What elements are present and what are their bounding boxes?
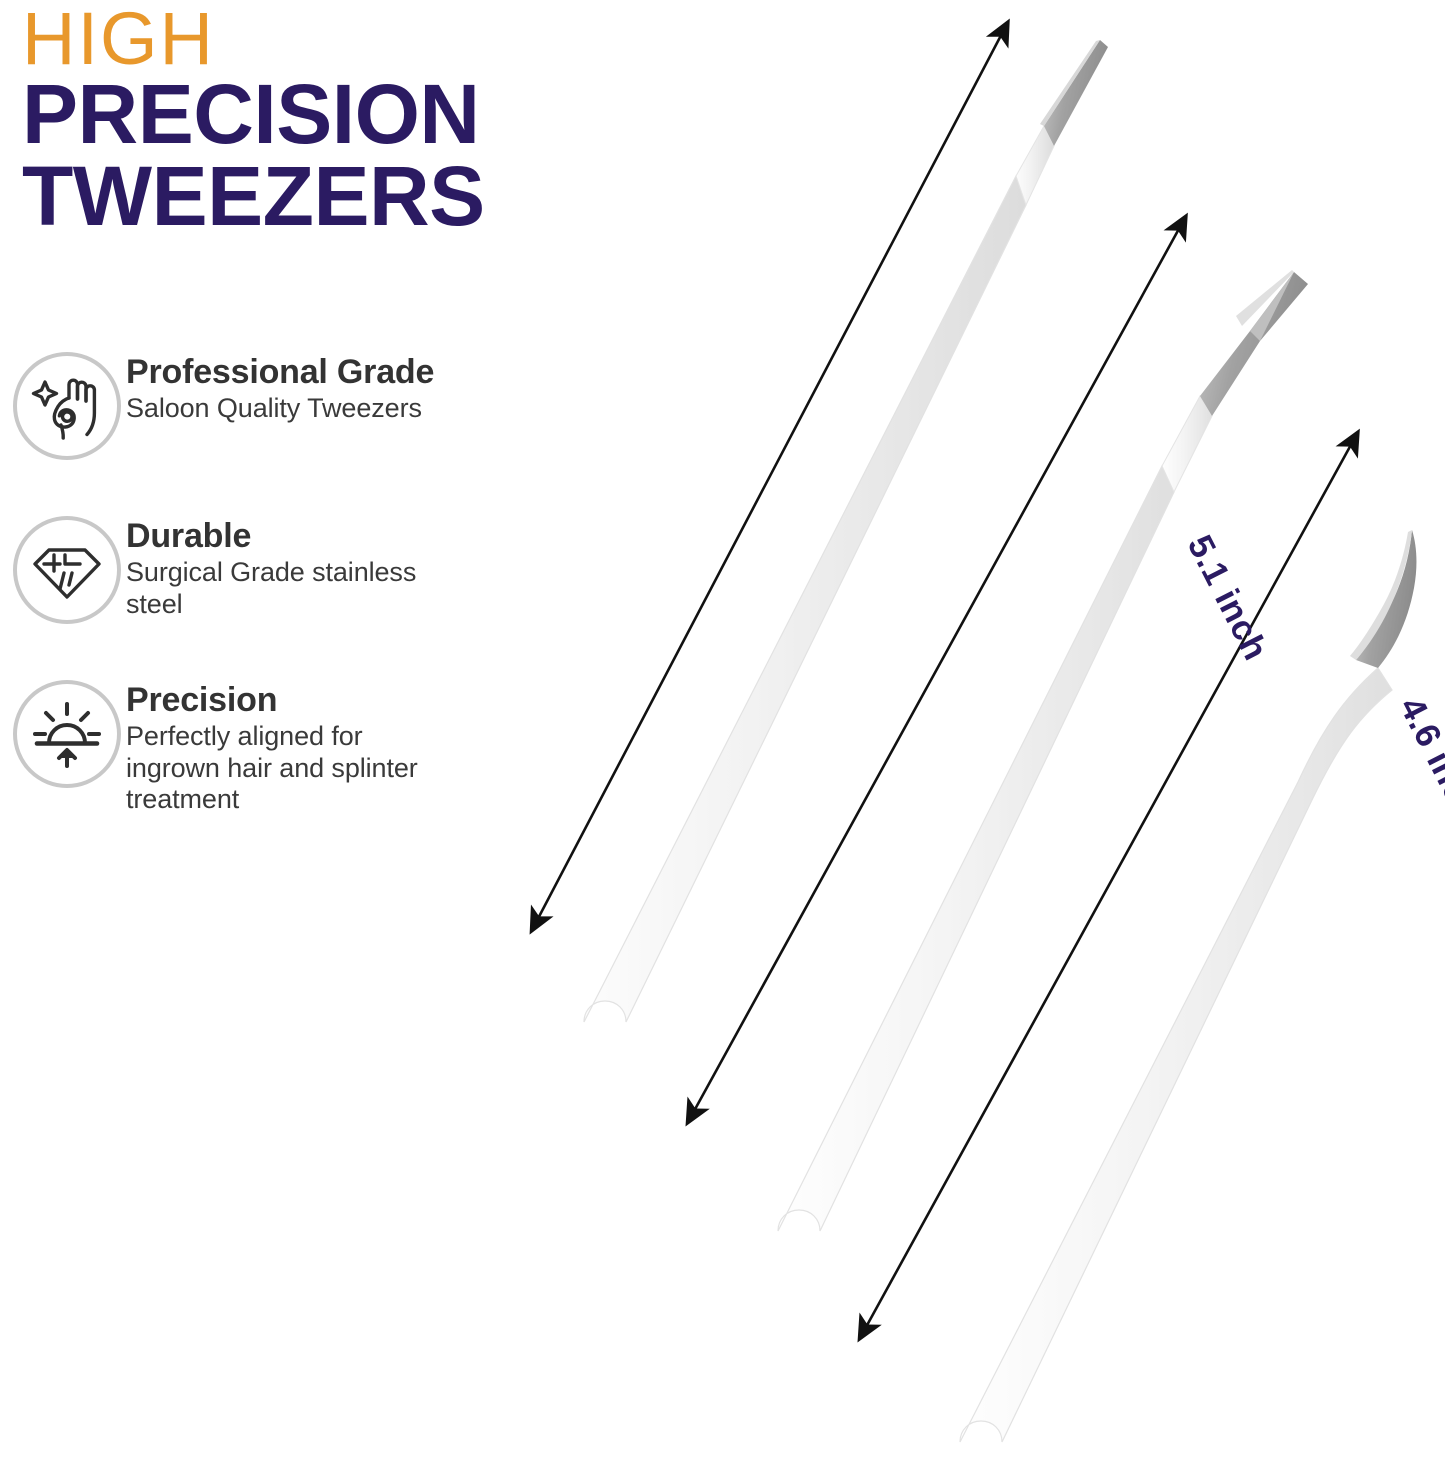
pointed-tip-tweezer bbox=[584, 40, 1108, 1022]
product-infographic: HIGH PRECISION TWEEZERS bbox=[0, 0, 1445, 1476]
tweezer-1-neck bbox=[1016, 126, 1054, 205]
diamond-gem-icon bbox=[30, 533, 104, 607]
feature-icon-wrapper bbox=[8, 512, 126, 624]
feature-icon-circle bbox=[13, 516, 121, 624]
feature-icon-circle bbox=[13, 680, 121, 788]
feature-title: Durable bbox=[126, 518, 458, 555]
curved-tip-tweezer bbox=[960, 530, 1416, 1442]
ok-hand-sparkle-icon bbox=[29, 368, 105, 444]
left-content-column: HIGH PRECISION TWEEZERS bbox=[0, 0, 470, 1476]
feature-icon-circle bbox=[13, 352, 121, 460]
feature-text-block: Precision Perfectly aligned for ingrown … bbox=[126, 676, 458, 816]
feature-item-professional-grade: Professional Grade Saloon Quality Tweeze… bbox=[8, 348, 458, 460]
sunrise-arrow-icon bbox=[29, 696, 105, 772]
feature-icon-wrapper bbox=[8, 676, 126, 788]
feature-description: Surgical Grade stainless steel bbox=[126, 557, 458, 621]
tweezers-illustration bbox=[460, 0, 1445, 1476]
tweezer-1-tip bbox=[1044, 40, 1108, 146]
feature-item-precision: Precision Perfectly aligned for ingrown … bbox=[8, 676, 458, 816]
feature-title: Professional Grade bbox=[126, 354, 458, 391]
feature-title: Precision bbox=[126, 682, 458, 719]
tweezer-2-neck bbox=[1162, 396, 1212, 492]
feature-item-durable: Durable Surgical Grade stainless steel bbox=[8, 512, 458, 624]
feature-description: Perfectly aligned for ingrown hair and s… bbox=[126, 721, 458, 817]
product-photo-area: 5.1 inch 4.6 inch 4.6 inch bbox=[460, 0, 1445, 1476]
feature-icon-wrapper bbox=[8, 348, 126, 460]
dimension-line-5-1-inch bbox=[532, 22, 1008, 930]
dimension-lines bbox=[532, 22, 1358, 1338]
feature-text-block: Professional Grade Saloon Quality Tweeze… bbox=[126, 348, 458, 425]
feature-description: Saloon Quality Tweezers bbox=[126, 393, 458, 425]
feature-list: Professional Grade Saloon Quality Tweeze… bbox=[8, 348, 458, 848]
angled-tip-tweezer bbox=[778, 270, 1308, 1231]
tweezer-2-tip bbox=[1200, 272, 1308, 416]
feature-text-block: Durable Surgical Grade stainless steel bbox=[126, 512, 458, 620]
